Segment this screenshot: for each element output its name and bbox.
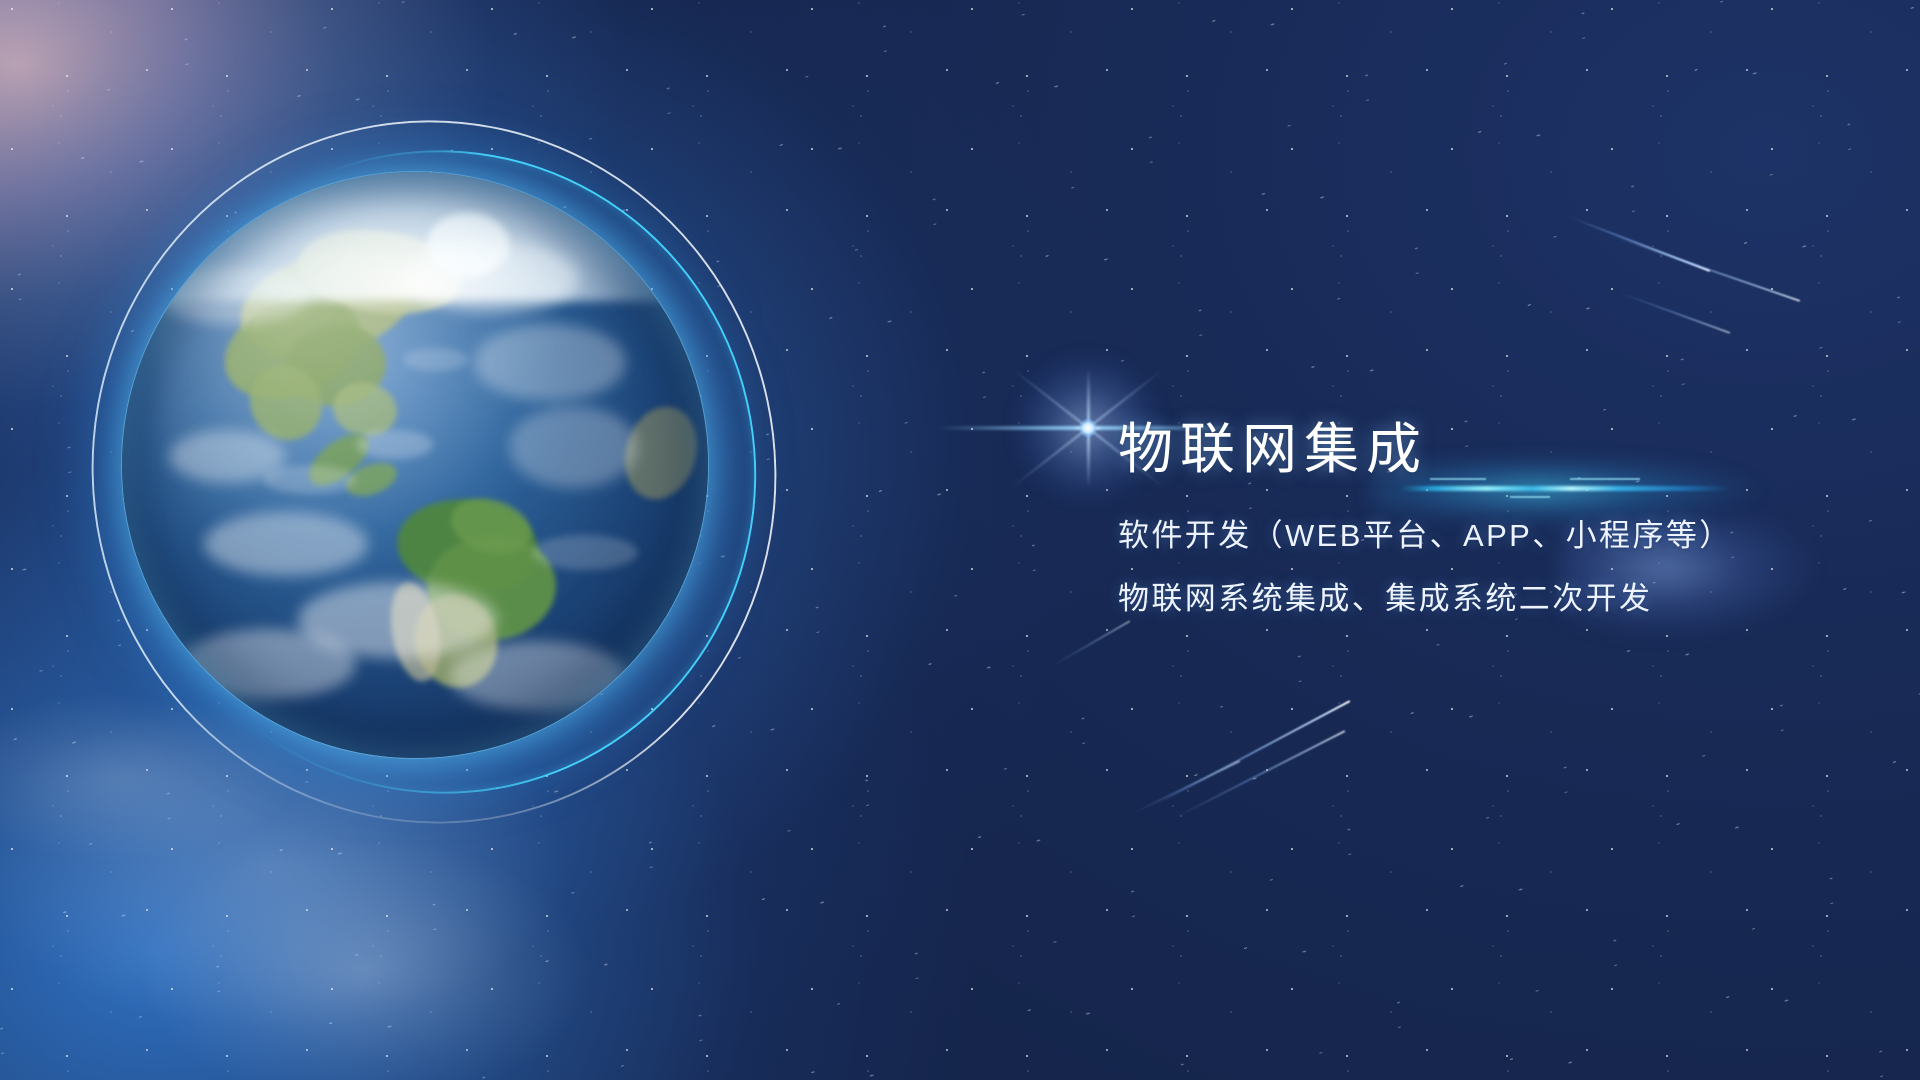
banner-subtitle-1: 软件开发（WEB平台、APP、小程序等） [1118, 520, 1878, 551]
page-title: 物联网集成 [1118, 420, 1878, 478]
banner-copy: 物联网集成 软件开发（WEB平台、APP、小程序等） 物联网系统集成、集成系统二… [1118, 420, 1878, 614]
banner-subtitle-2: 物联网系统集成、集成系统二次开发 [1118, 583, 1878, 614]
hero-banner: 物联网集成 软件开发（WEB平台、APP、小程序等） 物联网系统集成、集成系统二… [0, 0, 1920, 1080]
meteor-trail [1052, 620, 1131, 667]
meteor-trail [1175, 730, 1345, 818]
meteor-trail [1617, 291, 1730, 334]
meteor-trail [1132, 760, 1241, 814]
meteor-trail [1155, 700, 1350, 805]
meteor-trail [1611, 235, 1801, 302]
